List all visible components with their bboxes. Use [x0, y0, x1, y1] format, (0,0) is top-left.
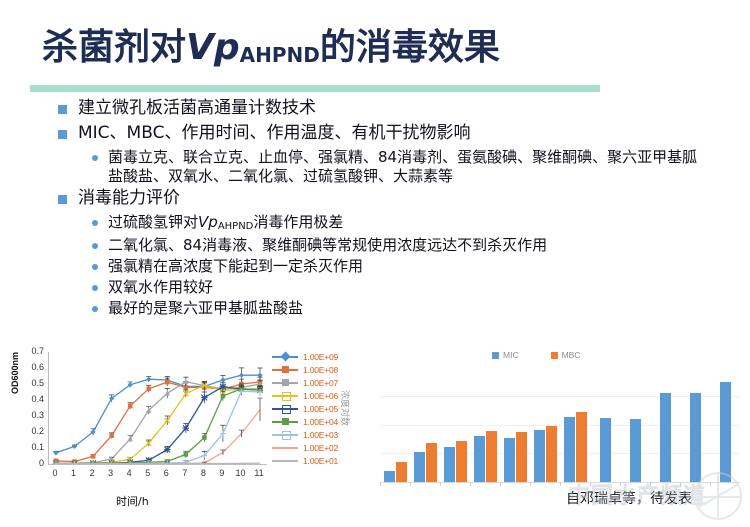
square-bullet-icon [58, 195, 67, 204]
legend-item[interactable]: 1.00E+02 [272, 441, 367, 454]
legend-label: 1.00E+04 [303, 417, 338, 427]
bar-mic [414, 452, 425, 482]
growth-chart-ytick: 0 [24, 458, 44, 468]
bar-mbc [426, 443, 437, 482]
bar-mic [690, 393, 701, 482]
bullet-item-l1: 建立微孔板活菌高通量计数技术 [0, 98, 750, 119]
legend-label: 1.00E+07 [303, 378, 338, 388]
title-subscript: AHPND [240, 43, 320, 67]
x-tick [470, 482, 471, 486]
bar-mic [630, 419, 641, 482]
bar-mic [720, 382, 731, 482]
x-tick [590, 482, 591, 486]
x-tick [680, 482, 681, 486]
legend-marker [281, 352, 291, 362]
legend-label: MBC [562, 350, 581, 360]
bullet-list: 建立微孔板活菌高通量计数技术MIC、MBC、作用时间、作用温度、有机干扰物影响菌… [0, 98, 750, 320]
growth-chart-xtick: 5 [140, 468, 156, 478]
bullet-item-l2: 最好的是聚六亚甲基胍盐酸盐 [0, 299, 750, 318]
legend-swatch [272, 403, 298, 414]
legend-item[interactable]: 1.00E+08 [272, 363, 367, 376]
legend-swatch [272, 442, 298, 453]
bar-mic [504, 438, 515, 482]
x-tick [500, 482, 501, 486]
legend-marker [282, 418, 289, 425]
legend-item[interactable]: 1.00E+05 [272, 402, 367, 415]
growth-curve-chart: OD600nm 时间/h 1.00E+091.00E+081.00E+071.0… [4, 342, 370, 527]
bar-mbc [516, 432, 527, 482]
dot-bullet-icon [92, 264, 98, 270]
legend-label: MIC [503, 350, 519, 360]
legend-label: 1.00E+08 [303, 365, 338, 375]
growth-chart-xtick: 2 [84, 468, 100, 478]
title-accent-rule [30, 85, 600, 92]
bullet-item-l2: 强氯精在高浓度下能起到一定杀灭作用 [0, 257, 750, 276]
legend-swatch [272, 351, 298, 362]
legend-swatch [492, 352, 499, 359]
bar-mbc [486, 431, 497, 482]
title-block: 杀菌剂对VpAHPND的消毒效果 [0, 8, 750, 80]
bullet-text: MIC、MBC、作用时间、作用温度、有机干扰物影响 [78, 123, 470, 144]
bullet-text: 建立微孔板活菌高通量计数技术 [78, 98, 316, 119]
growth-chart-xtick: 8 [195, 468, 211, 478]
bullet-item-l1: 消毒能力评价 [0, 188, 750, 209]
legend-label: 1.00E+06 [303, 391, 338, 401]
bullet-item-l2: 菌毒立克、联合立克、止血停、强氯精、84消毒剂、蛋氨酸碘、聚维酮碘、聚六亚甲基胍… [0, 148, 750, 186]
growth-chart-xtick: 3 [103, 468, 119, 478]
growth-chart-plot [48, 352, 267, 465]
mic-mbc-chart: MICMBC 自邓瑞卓等，待发表 [372, 342, 748, 527]
x-tick [710, 482, 711, 486]
bar-mic [564, 417, 575, 482]
charts-area: OD600nm 时间/h 1.00E+091.00E+081.00E+071.0… [0, 340, 750, 527]
legend-line [272, 447, 298, 449]
bullet-text: 强氯精在高浓度下能起到一定杀灭作用 [108, 257, 363, 276]
legend-label: 1.00E+03 [303, 430, 338, 440]
growth-chart-xtick: 0 [47, 468, 63, 478]
legend-swatch [272, 364, 298, 375]
square-bullet-icon [58, 130, 67, 139]
bullet-text: 过硫酸氢钾对VpAHPND消毒作用极差 [108, 213, 343, 234]
legend-swatch [272, 429, 298, 440]
growth-chart-ytick: 0.5 [24, 378, 44, 388]
slide-root: 杀菌剂对VpAHPND的消毒效果 建立微孔板活菌高通量计数技术MIC、MBC、作… [0, 0, 750, 527]
growth-chart-xtick: 11 [251, 468, 267, 478]
x-tick [650, 482, 651, 486]
bullet-item-l2: 过硫酸氢钾对VpAHPND消毒作用极差 [0, 213, 750, 234]
legend-item[interactable]: 1.00E+06 [272, 389, 367, 402]
legend-marker [282, 405, 291, 414]
growth-chart-xtick: 7 [177, 468, 193, 478]
legend-item[interactable]: 1.00E+07 [272, 376, 367, 389]
title-prefix: 杀菌剂对 [42, 27, 186, 68]
legend-item[interactable]: 1.00E+01 [272, 454, 367, 467]
legend-item[interactable]: MIC [492, 350, 519, 360]
growth-chart-legend: 1.00E+091.00E+081.00E+071.00E+061.00E+05… [272, 350, 367, 467]
growth-chart-xtick: 1 [66, 468, 82, 478]
x-tick [380, 482, 381, 486]
bar-mic [444, 447, 455, 482]
x-tick [440, 482, 441, 486]
legend-swatch [272, 455, 298, 466]
square-bullet-icon [58, 105, 67, 114]
legend-swatch [272, 390, 298, 401]
bullet-text: 最好的是聚六亚甲基胍盐酸盐 [108, 299, 303, 318]
bar-mic [384, 471, 395, 482]
bar-mbc [456, 441, 467, 482]
legend-swatch [272, 377, 298, 388]
growth-chart-ytick: 0.3 [24, 410, 44, 420]
x-tick [410, 482, 411, 486]
bullet-text: 菌毒立克、联合立克、止血停、强氯精、84消毒剂、蛋氨酸碘、聚维酮碘、聚六亚甲基胍… [108, 148, 708, 186]
growth-chart-ytick: 0.2 [24, 426, 44, 436]
bar-mbc [546, 426, 557, 482]
bullet-text: 消毒能力评价 [78, 188, 180, 209]
bar-mbc [576, 412, 587, 482]
legend-label: 1.00E+09 [303, 352, 338, 362]
legend-item[interactable]: 1.00E+03 [272, 428, 367, 441]
bullet-subscript: AHPND [218, 221, 254, 232]
page-title: 杀菌剂对VpAHPND的消毒效果 [42, 18, 500, 70]
dot-bullet-icon [92, 306, 98, 312]
bar-mbc [396, 462, 407, 482]
bar-mic [474, 436, 485, 482]
legend-line [272, 460, 298, 462]
x-tick [530, 482, 531, 486]
legend-marker [282, 431, 291, 440]
growth-chart-ytick: 0.7 [24, 346, 44, 356]
growth-chart-ytick: 0.6 [24, 362, 44, 372]
growth-chart-ytick: 0.1 [24, 442, 44, 452]
gridline [380, 396, 740, 397]
x-tick [620, 482, 621, 486]
title-italic: Vp [186, 27, 240, 68]
bullet-text: 二氧化氯、84消毒液、聚维酮碘等常规使用浓度远达不到杀灭作用 [108, 236, 547, 255]
bullet-suffix: 消毒作用极差 [253, 213, 343, 231]
dot-bullet-icon [92, 155, 98, 161]
mic-mbc-plot [380, 368, 740, 483]
growth-chart-svg [49, 352, 267, 464]
legend-swatch [272, 416, 298, 427]
legend-label: 1.00E+02 [303, 443, 338, 453]
growth-chart-legend-title: 浓度对数 [339, 390, 352, 426]
mic-mbc-legend: MICMBC [492, 350, 580, 360]
bar-mic [534, 430, 545, 482]
growth-chart-xlabel: 时间/h [116, 493, 149, 509]
bullet-prefix: 过硫酸氢钾对 [108, 213, 198, 231]
growth-chart-ytick: 0.4 [24, 394, 44, 404]
growth-chart-xtick: 10 [232, 468, 248, 478]
title-suffix: 的消毒效果 [320, 27, 500, 68]
growth-chart-xtick: 6 [158, 468, 174, 478]
legend-item[interactable]: 1.00E+04 [272, 415, 367, 428]
growth-chart-xtick: 9 [214, 468, 230, 478]
gridline [380, 425, 740, 426]
legend-label: 1.00E+05 [303, 404, 338, 414]
chart-credit: 自邓瑞卓等，待发表 [566, 488, 692, 508]
legend-marker [282, 366, 289, 373]
bullet-text: 双氧水作用较好 [108, 278, 213, 297]
dot-bullet-icon [92, 220, 98, 226]
legend-swatch [551, 352, 558, 359]
bullet-item-l2: 双氧水作用较好 [0, 278, 750, 297]
bullet-item-l2: 二氧化氯、84消毒液、聚维酮碘等常规使用浓度远达不到杀灭作用 [0, 236, 750, 255]
legend-item[interactable]: MBC [551, 350, 581, 360]
dot-bullet-icon [92, 243, 98, 249]
bar-mic [600, 418, 611, 482]
x-tick [560, 482, 561, 486]
legend-marker [282, 379, 289, 386]
growth-chart-ylabel: OD600nm [10, 352, 20, 394]
dot-bullet-icon [92, 285, 98, 291]
legend-label: 1.00E+01 [303, 456, 338, 466]
bullet-item-l1: MIC、MBC、作用时间、作用温度、有机干扰物影响 [0, 123, 750, 144]
legend-item[interactable]: 1.00E+09 [272, 350, 367, 363]
legend-marker [282, 392, 291, 401]
bar-mic [660, 393, 671, 482]
growth-chart-xtick: 4 [121, 468, 137, 478]
bullet-italic: Vp [198, 213, 218, 231]
